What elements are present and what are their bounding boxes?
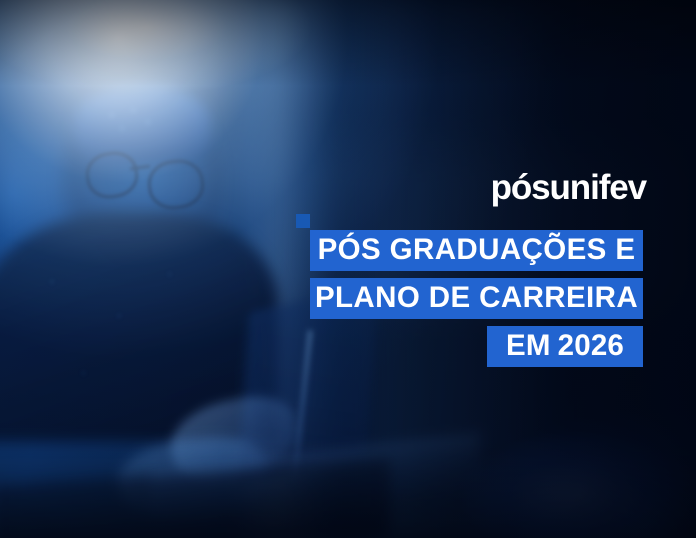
year-band: EM 2026 <box>487 326 643 367</box>
headline-band-1: PÓS GRADUAÇÕES E <box>310 230 643 271</box>
year-band-year: 2026 <box>558 329 624 363</box>
headline-band-2: PLANO DE CARREIRA <box>310 278 643 319</box>
year-band-prefix: EM <box>506 329 551 363</box>
posunifev-logo[interactable]: pósunifev <box>460 170 646 205</box>
accent-square-decoration <box>296 214 310 228</box>
promo-banner: pósunifev PÓS GRADUAÇÕES E PLANO DE CARR… <box>0 0 696 538</box>
banner-content: pósunifev PÓS GRADUAÇÕES E PLANO DE CARR… <box>0 0 696 538</box>
